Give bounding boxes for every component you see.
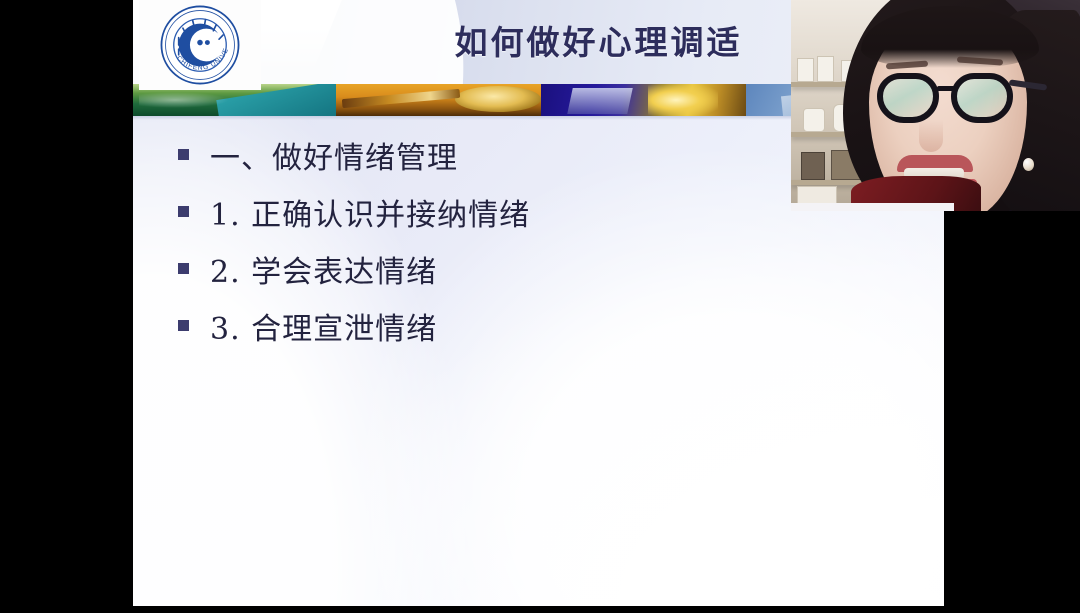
shelf-item	[803, 108, 825, 132]
chifeng-university-seal-icon: CHIFENG UNIVERSITY	[159, 4, 241, 86]
shelf-item	[801, 152, 825, 180]
eyeglasses-lens-left	[877, 73, 939, 123]
filmstrip-cell-blue-gold	[541, 84, 746, 116]
square-bullet-icon	[178, 149, 189, 160]
screen-share-view: 如何做好心理调适	[0, 0, 1080, 613]
slide-bullet-list: 一、做好情绪管理 1. 正确认识并接纳情绪 2. 学会表达情绪 3. 合理宣泄情…	[178, 126, 878, 354]
list-item: 一、做好情绪管理	[178, 126, 878, 183]
video-bottom-strip	[791, 203, 954, 211]
shelf-item	[797, 58, 814, 82]
list-item: 2. 学会表达情绪	[178, 240, 878, 297]
shelf-item	[817, 56, 834, 82]
list-item: 3. 合理宣泄情绪	[178, 297, 878, 354]
bullet-text: 3. 合理宣泄情绪	[210, 304, 437, 348]
earring	[1023, 158, 1034, 171]
letterbox-bar-right	[944, 211, 1080, 613]
list-item: 1. 正确认识并接纳情绪	[178, 183, 878, 240]
nose	[919, 120, 943, 152]
eyeglasses-bridge	[937, 86, 955, 91]
letterbox-bar-left	[0, 0, 133, 613]
eyeglasses-lens-right	[951, 73, 1013, 123]
presenter-video-feed[interactable]	[791, 0, 1080, 211]
bullet-text: 1. 正确认识并接纳情绪	[210, 190, 530, 234]
letterbox-bar-bottom	[0, 606, 1080, 613]
square-bullet-icon	[178, 320, 189, 331]
square-bullet-icon	[178, 206, 189, 217]
filmstrip-cell-orange-desk	[336, 84, 541, 116]
bullet-text: 一、做好情绪管理	[210, 133, 458, 177]
square-bullet-icon	[178, 263, 189, 274]
bullet-text: 2. 学会表达情绪	[210, 247, 437, 291]
university-logo-plate: CHIFENG UNIVERSITY	[139, 0, 261, 90]
